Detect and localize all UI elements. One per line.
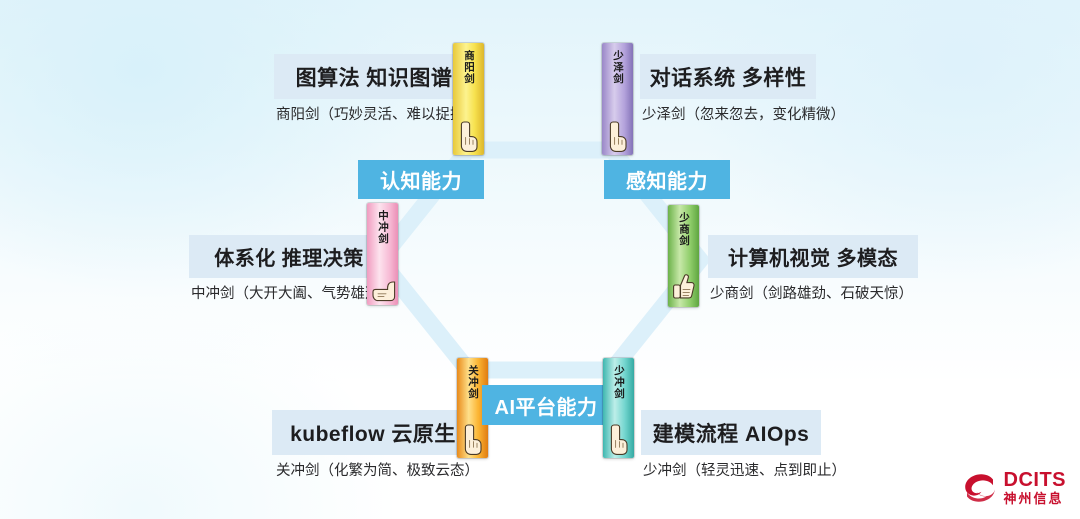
sword-label-shaoshang: 少商剑: [677, 212, 690, 247]
capability-plate-perceptive[interactable]: 感知能力: [604, 160, 730, 199]
sword-label-shaochong: 少冲剑: [612, 365, 625, 400]
slide-canvas: 图算法 知识图谱 商阳剑（巧妙灵活、难以捉摸） 商阳剑 少泽剑 对话系统 多样性…: [0, 0, 1080, 519]
node-caption-modeling-aiops: 少冲剑（轻灵迅速、点到即止）: [643, 459, 846, 480]
logo-text-en: DCITS: [1004, 470, 1067, 490]
node-title-kubeflow: kubeflow 云原生: [272, 410, 474, 455]
node-title-modeling-aiops: 建模流程 AIOps: [641, 410, 821, 455]
pointing-finger-icon: [456, 118, 482, 152]
sword-label-guanchong: 关冲剑: [466, 365, 479, 400]
node-title-graph-algorithm: 图算法 知识图谱: [274, 54, 474, 99]
logo-text-cn: 神州信息: [1004, 492, 1067, 505]
sword-bar-shaoze: 少泽剑: [602, 43, 633, 155]
node-caption-graph-algorithm: 商阳剑（巧妙灵活、难以捉摸）: [276, 103, 479, 124]
node-caption-kubeflow: 关冲剑（化繁为简、极致云态）: [276, 459, 479, 480]
capability-plate-ai-platform[interactable]: AI平台能力: [482, 385, 610, 425]
sword-bar-shangyang: 商阳剑: [453, 43, 484, 155]
thumbs-up-icon: [671, 270, 697, 304]
pointing-finger-icon: [606, 421, 632, 455]
dcits-logo: DCITS 神州信息: [963, 470, 1067, 505]
sword-label-shaoze: 少泽剑: [611, 50, 624, 85]
dcits-swirl-icon: [963, 473, 997, 503]
sword-bar-shaoshang: 少商剑: [668, 205, 699, 307]
pointing-finger-icon: [605, 118, 631, 152]
capability-plate-cognitive[interactable]: 认知能力: [358, 160, 484, 199]
sword-label-shangyang: 商阳剑: [462, 50, 475, 85]
node-title-dialogue-system: 对话系统 多样性: [640, 54, 816, 99]
node-caption-computer-vision: 少商剑（剑路雄劲、石破天惊）: [710, 282, 913, 303]
node-title-systematization: 体系化 推理决策: [189, 235, 389, 278]
pointing-finger-icon: [460, 421, 486, 455]
node-caption-systematization: 中冲剑（大开大阖、气势雄迈）: [191, 282, 394, 303]
sword-label-zhongchong: 中冲剑: [376, 210, 389, 245]
sword-bar-shaochong: 少冲剑: [603, 358, 634, 458]
pointing-hand-icon: [370, 268, 396, 302]
hexagon-connector: [0, 0, 1080, 519]
node-caption-dialogue-system: 少泽剑（忽来忽去，变化精微）: [642, 103, 845, 124]
sword-bar-zhongchong: 中冲剑: [367, 203, 398, 305]
node-title-computer-vision: 计算机视觉 多模态: [708, 235, 918, 278]
